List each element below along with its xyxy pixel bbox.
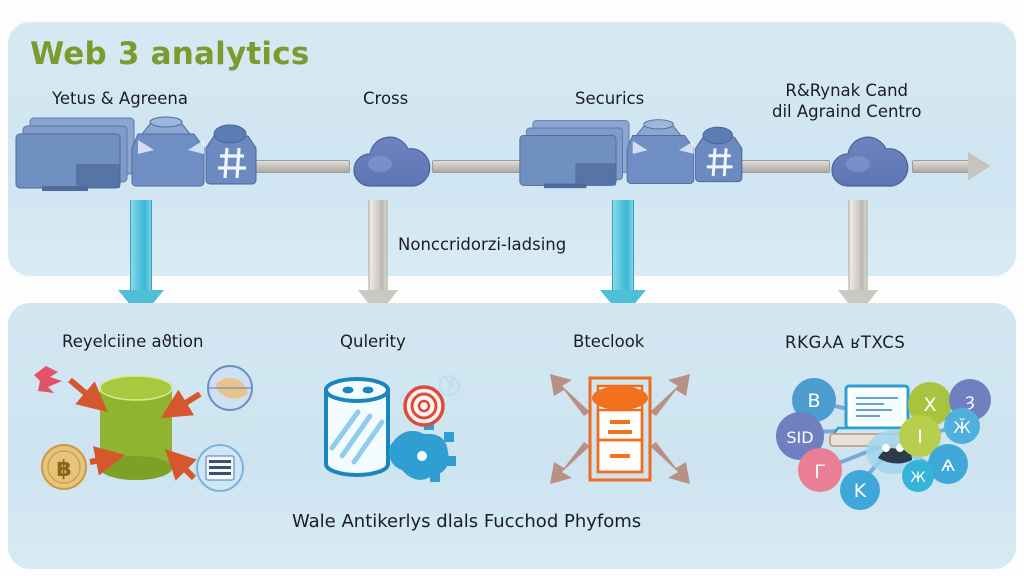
page-title: Web 3 analytics (30, 36, 309, 72)
down-arrow-securics (600, 200, 646, 318)
icon-group-securics (518, 112, 740, 194)
illustration-green-database: ฿ (34, 362, 256, 498)
svg-text:฿: ฿ (56, 457, 71, 482)
icon-cloud-cross (350, 134, 434, 190)
target-icon (405, 387, 443, 425)
node-label-a: Ӂ (953, 418, 970, 437)
coin-badge-icon: ฿ (42, 445, 86, 489)
cloud-icon (828, 134, 912, 190)
illustration-orange-cabinet (528, 364, 712, 494)
node-label-cross: Cross (363, 89, 408, 108)
icon-cloud-rrynak (828, 134, 912, 190)
node-label-i: I (917, 426, 923, 448)
card-label-bteclook: Bteclook (573, 332, 644, 351)
node-label-sid: SID (786, 428, 813, 447)
node-label-yetus: Yetus & Agreena (52, 89, 188, 108)
crypto-badge-icon-topleft (34, 366, 62, 393)
bottom-caption: Wale Antikerlys dlals Fucchod Phyfoms (292, 511, 641, 532)
cylinder-dot-left (343, 387, 354, 394)
globe-badge-icon (208, 366, 252, 410)
connector-arrowhead-icon (968, 152, 990, 180)
node-label-r: Г (814, 461, 826, 483)
down-arrow-rrynak (838, 200, 878, 318)
jar-icon (627, 120, 694, 184)
jar-icon (132, 117, 204, 186)
diagram-canvas: Web 3 analytics (0, 0, 1024, 576)
down-arrow-yetus (118, 200, 164, 318)
node-label-k: K (854, 480, 867, 502)
stacked-servers-icon (520, 121, 629, 189)
node-label-b: B (807, 390, 820, 412)
connector-bar-4 (912, 160, 974, 173)
node-label-rrynak-line2: dil Agraind Centro (772, 101, 921, 122)
green-cylinder-icon (100, 376, 172, 480)
sparkle-icon (440, 376, 460, 395)
card-label-rkg: RKG⅄A ʁTXCS (785, 333, 905, 352)
gear-icon (389, 420, 456, 482)
connector-bar-3 (732, 160, 830, 173)
cabinet-top-disc (592, 386, 648, 410)
node-label-e: Ѧ (941, 456, 955, 475)
node-label-s: Ж (910, 470, 925, 486)
connector-bar-2 (432, 160, 522, 173)
stacked-servers-icon (16, 118, 134, 191)
cylinder-dot-right (363, 387, 374, 394)
node-label-rrynak: R&Rynak Cand dil Agraind Centro (772, 80, 921, 122)
node-label-securics: Securics (575, 89, 644, 108)
card-label-reyelciine: Reyelciine aϑtion (62, 332, 203, 351)
icon-group-yetus (14, 112, 254, 194)
illustration-network-graph: B SID Г K X ȝ I Ӂ Ѧ Ж (772, 368, 998, 504)
card-label-qulerity: Qulerity (340, 332, 406, 351)
illustration-blue-cylinder-gear (312, 368, 472, 488)
down-arrow-cross (358, 200, 398, 318)
grid-bag-icon (696, 127, 742, 182)
flow-note: Nonccridorzi-ladsing (398, 235, 566, 254)
grid-bag-icon (206, 125, 256, 184)
connector-bar-1 (250, 160, 350, 173)
node-label-rrynak-line1: R&Rynak Cand (772, 80, 921, 101)
node-label-x: X (923, 394, 936, 416)
cloud-icon (350, 134, 434, 190)
ledger-badge-icon (197, 445, 243, 491)
